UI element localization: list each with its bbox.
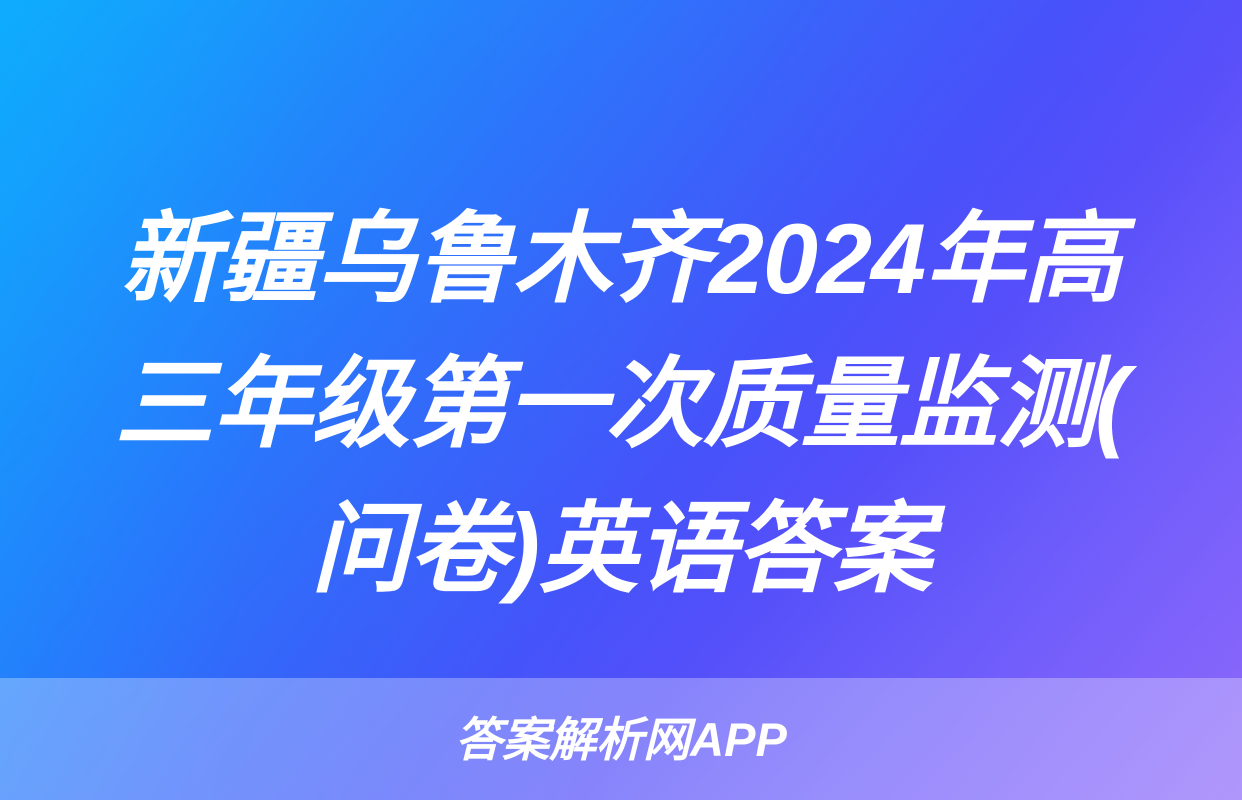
watermark-app-label: 答案解析网APP [455, 716, 787, 763]
watermark-band: 答案解析网APP [0, 678, 1242, 800]
page-title: 新疆乌鲁木齐2024年高 三年级第一次质量监测( 问卷)英语答案 [0, 186, 1242, 621]
title-line-2: 三年级第一次质量监测( [70, 331, 1172, 476]
title-line-1: 新疆乌鲁木齐2024年高 [70, 186, 1172, 331]
promo-poster: 新疆乌鲁木齐2024年高 三年级第一次质量监测( 问卷)英语答案 答案解析网AP… [0, 0, 1242, 800]
title-line-3: 问卷)英语答案 [70, 476, 1172, 621]
